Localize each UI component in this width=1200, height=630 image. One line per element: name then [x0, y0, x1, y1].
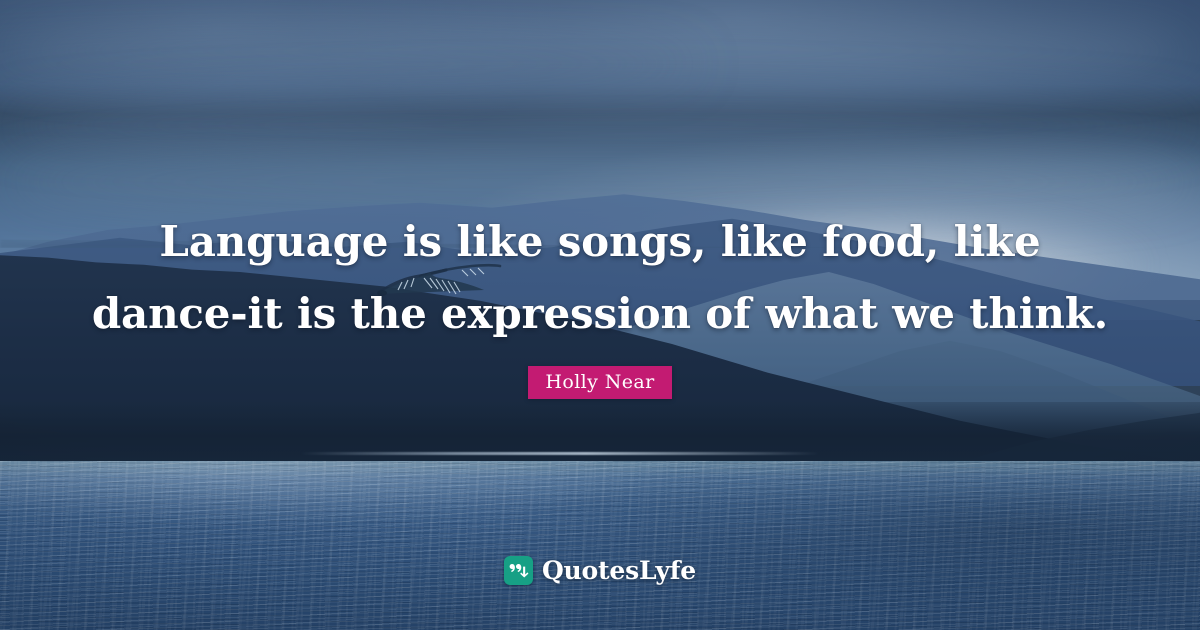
- author-badge[interactable]: Holly Near: [528, 366, 671, 399]
- brand-name: QuotesLyfe: [542, 557, 696, 585]
- brand-logo[interactable]: QuotesLyfe: [0, 556, 1200, 585]
- quote-text: Language is like songs, like food, like …: [80, 206, 1120, 350]
- author-row: Holly Near: [0, 366, 1200, 399]
- quote-card: Language is like songs, like food, like …: [0, 0, 1200, 630]
- quote-bubble-icon: [504, 556, 533, 585]
- card-content: Language is like songs, like food, like …: [0, 0, 1200, 630]
